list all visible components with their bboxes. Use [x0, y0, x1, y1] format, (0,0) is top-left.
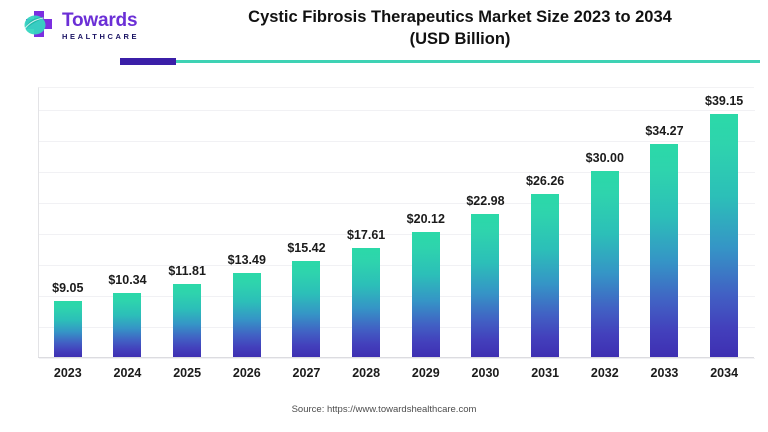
x-axis-tick-label: 2023 — [38, 366, 98, 380]
x-axis-tick-label: 2027 — [277, 366, 337, 380]
source-caption: Source: https://www.towardshealthcare.co… — [0, 404, 768, 415]
x-axis-tick-label: 2034 — [694, 366, 754, 380]
x-axis-tick-label: 2032 — [575, 366, 635, 380]
x-axis-tick-label: 2030 — [456, 366, 516, 380]
x-axis-tick-label: 2024 — [98, 366, 158, 380]
x-axis-tick-label: 2025 — [157, 366, 217, 380]
x-axis-labels: 2023202420252026202720282029203020312032… — [38, 0, 754, 432]
x-axis-tick-label: 2033 — [635, 366, 695, 380]
x-axis-tick-label: 2029 — [396, 366, 456, 380]
x-axis-tick-label: 2026 — [217, 366, 277, 380]
x-axis-tick-label: 2028 — [336, 366, 396, 380]
x-axis-tick-label: 2031 — [515, 366, 575, 380]
